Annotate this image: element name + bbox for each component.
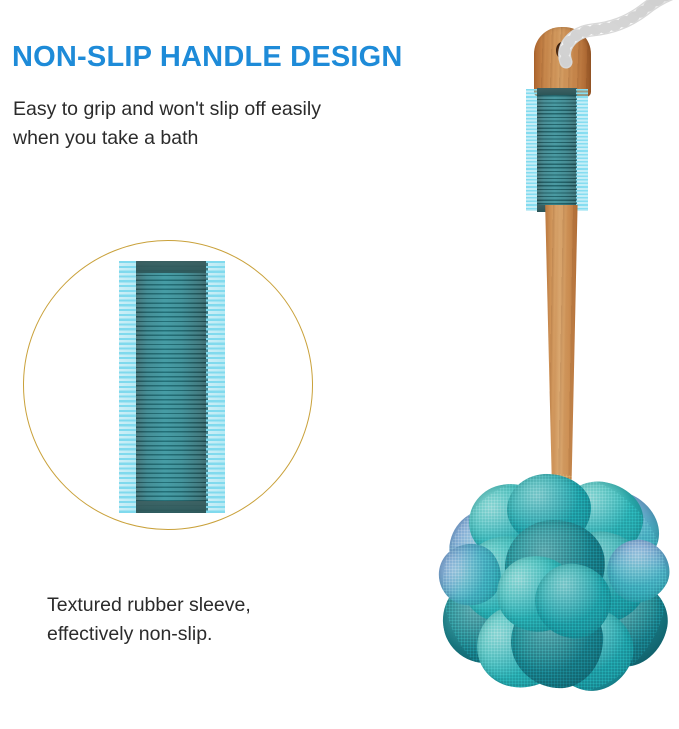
grip-right-ribs xyxy=(576,89,588,211)
grip-top-band xyxy=(537,88,577,95)
product-feature-image: NON-SLIP HANDLE DESIGN Easy to grip and … xyxy=(0,0,679,729)
brush-wooden-shaft xyxy=(543,205,579,505)
grip-core xyxy=(537,88,577,212)
bath-brush-product xyxy=(0,0,679,729)
brush-hanging-rope xyxy=(540,0,679,70)
brush-rubber-grip xyxy=(526,88,588,212)
loofah-mesh-pouf xyxy=(443,474,667,696)
